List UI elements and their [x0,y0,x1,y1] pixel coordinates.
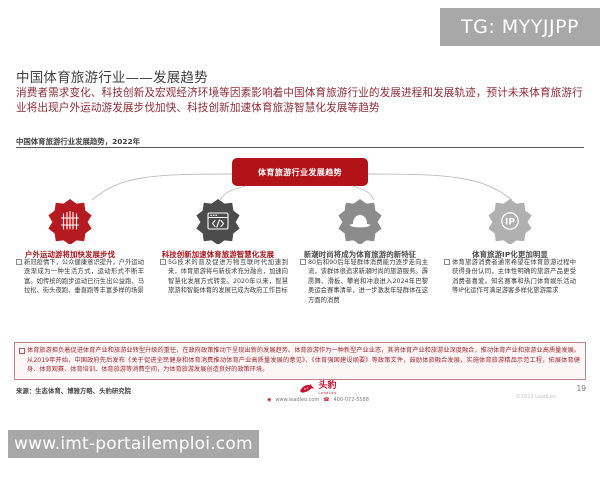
page-subtitle: 消费者需求变化、科技创新及宏观经济环境等因素影响着中国体育旅游行业的发展进程和发… [16,86,584,115]
trend-description-columns: 新冠疫情下，公众健康意识提升，户外运动逐渐成为一种生活方式，运动形式不断丰富。如… [0,258,600,340]
bullet-marker [444,259,450,265]
ip-icon: IP [487,198,533,244]
policy-highlight-text: 体育旅游担负着促进体育产业和旅游业转型升级的重任，在政府政策推动下呈现出新的发展… [27,347,580,373]
svg-text:IP: IP [505,218,515,228]
bullet-marker [300,259,306,265]
phone-text: 400-072-5588 [334,397,369,403]
diagram-branch-0: 户外运动游将加快发展步伐 [0,198,140,260]
leopard-logo-icon [299,383,315,395]
trend-body-text: 新冠疫情下，公众健康意识提升，户外运动逐渐成为一种生活方式，运动形式不断丰富。如… [16,258,144,296]
chart-caption: 中国体育旅游行业发展趋势，2022年 [16,136,140,147]
logo-wordmark: 头豹 [318,382,336,391]
fence-icon [47,198,93,244]
trend-body-text: 体育旅游消费者通常希望在体育旅游过程中获得身份认同，主体性明确的旅游产品更受消费… [444,258,576,296]
caption-divider [16,147,584,148]
diagram-branch-2: 新潮时尚将成为体育旅游的新特征 [290,198,430,260]
hat-icon [337,198,383,244]
logo-subtext: LeadLeo [318,391,336,395]
trend-column-2: 80后和90后年轻群体消费能力逐步走向主流，该群体很追求新潮时尚的旅游服务。霹雳… [300,258,428,305]
policy-highlight-box: 体育旅游担负着促进体育产业和旅游业转型升级的重任，在政府政策推动下呈现出新的发展… [14,342,586,380]
bullet-marker [16,259,22,265]
diagram-branch-3: IP 体育旅游IP化更加明显 [440,198,580,260]
copyright-text: ©2022 LeadLeo [516,394,556,400]
trend-column-3: 体育旅游消费者通常希望在体育旅游过程中获得身份认同，主体性明确的旅游产品更受消费… [444,258,576,296]
source-note: 来源：生态体育、博雅方略、头豹研究院 [16,386,131,395]
trend-body-text: 80后和90后年轻群体消费能力逐步走向主流，该群体很追求新潮时尚的旅游服务。霹雳… [300,258,428,305]
code-window-icon [195,198,241,244]
page-number: 19 [576,384,586,393]
globe-icon: ◉ [267,397,271,403]
page-title: 中国体育旅游行业——发展趋势 [16,66,208,86]
bullet-marker [160,259,166,265]
bullet-marker [19,348,25,354]
trend-column-0: 新冠疫情下，公众健康意识提升，户外运动逐渐成为一种生活方式，运动形式不断丰富。如… [16,258,144,296]
trend-body-text: 5G技术的普及促进万物互联时代加速到来，体育旅游将与新技术充分融合，加速向智慧化… [160,258,288,296]
site-url-watermark: www.imt-portailemploi.com [8,430,259,458]
phone-icon: ☎ [323,397,329,403]
slide-canvas: 中国体育旅游行业——发展趋势 消费者需求变化、科技创新及宏观经济环境等因素影响着… [0,58,600,418]
leadleo-logo: 头豹 LeadLeo ◉ www.leadleo.com ☎ 400-072-5… [258,382,378,403]
trend-column-1: 5G技术的普及促进万物互联时代加速到来，体育旅游将与新技术充分融合，加速向智慧化… [160,258,288,296]
diagram-branch-1: 科技创新加速体育旅游智慧化发展 [148,198,288,260]
telegram-watermark-tag: TG: MYYJJPP [440,8,600,46]
website-text: www.leadleo.com [275,397,319,403]
